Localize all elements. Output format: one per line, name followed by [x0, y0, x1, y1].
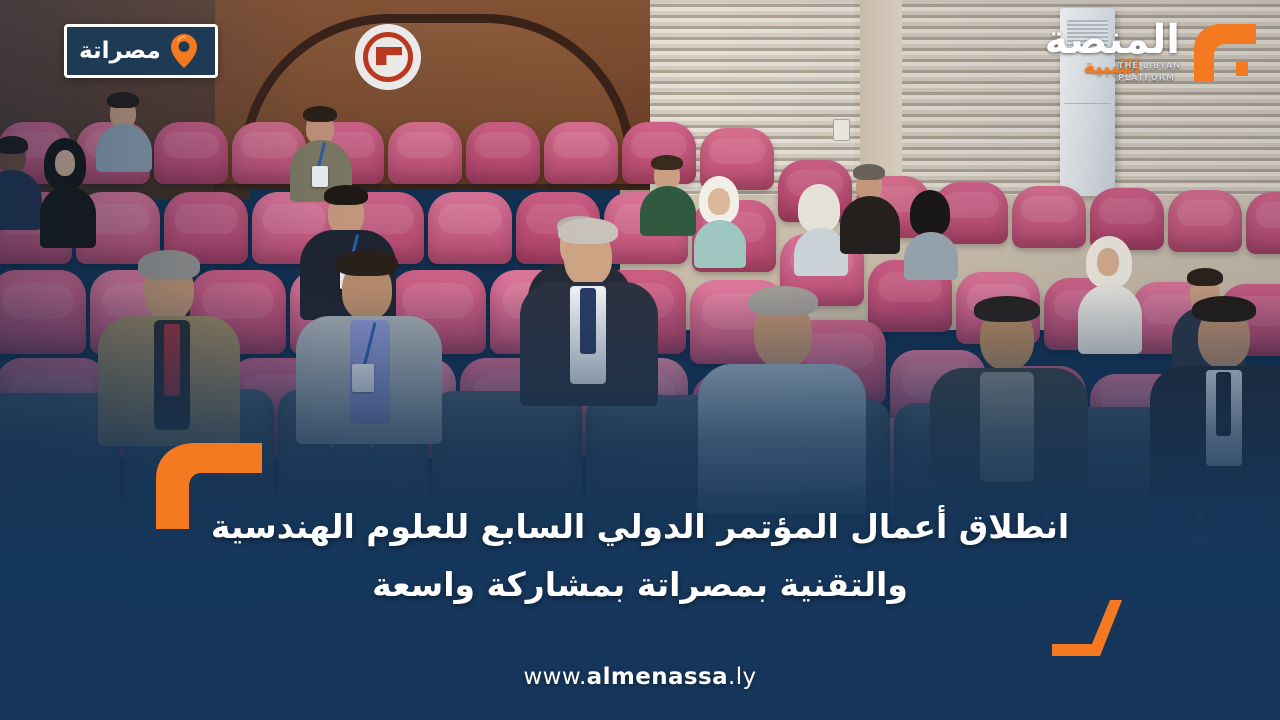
headline-line-2: والتقنية بمصراتة بمشاركة واسعة [150, 556, 1130, 614]
brand-name-en: THE LIBYAN PLATFORM [1118, 60, 1196, 83]
brand-hook-icon [1192, 22, 1258, 84]
location-badge[interactable]: مصراتة [64, 24, 218, 78]
website-name: almenassa [587, 664, 728, 690]
location-label: مصراتة [79, 40, 161, 63]
website-url[interactable]: www.almenassa.ly [0, 664, 1280, 690]
website-tld: .ly [728, 664, 757, 690]
brand-name-en-line1: THE LIBYAN [1118, 61, 1181, 70]
news-card: مصراتة المنصة الليبية THE LIBYAN PLATFOR… [0, 0, 1280, 720]
brand-name-ar: المنصة [1044, 20, 1180, 60]
website-prefix: www. [523, 664, 586, 690]
headline: انطلاق أعمال المؤتمر الدولي السابع للعلو… [0, 498, 1280, 614]
location-pin-icon [171, 34, 197, 68]
brand-name-en-line2: PLATFORM [1118, 73, 1175, 82]
headline-line-1: انطلاق أعمال المؤتمر الدولي السابع للعلو… [150, 498, 1130, 556]
brand-logo[interactable]: المنصة الليبية THE LIBYAN PLATFORM [1046, 14, 1258, 90]
